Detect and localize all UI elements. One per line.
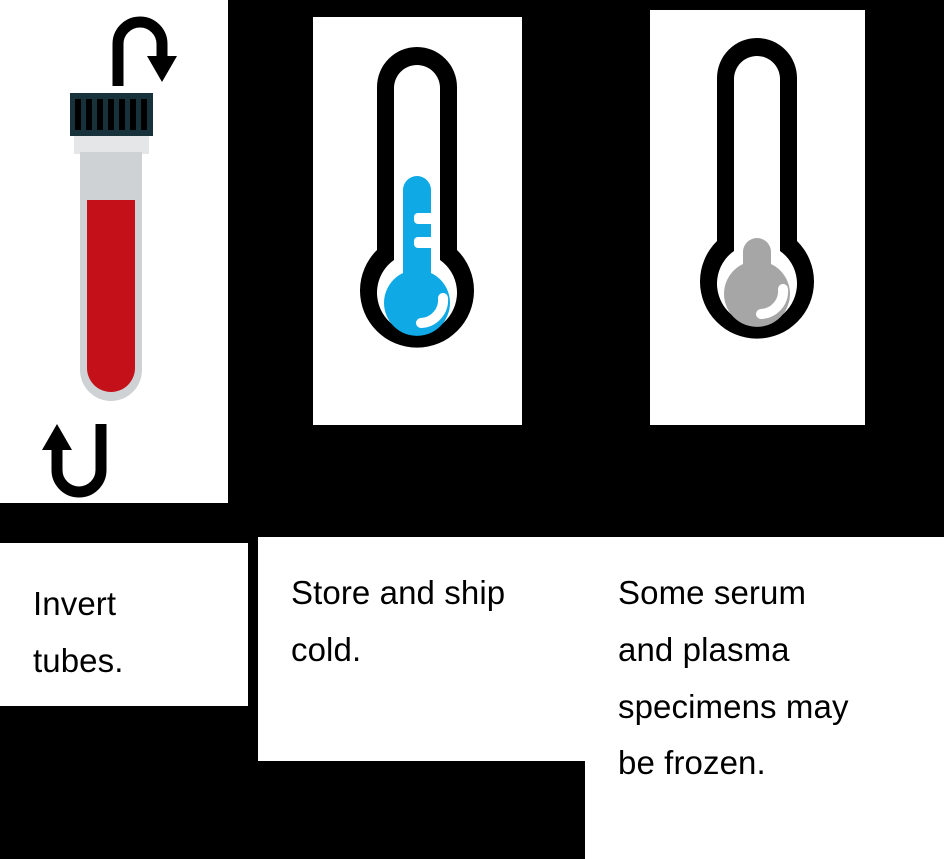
- caption-text-store-ship-cold: Store and ship cold.: [291, 565, 581, 679]
- caption-panel-store-ship-cold: Store and ship cold.: [258, 537, 585, 761]
- image-panel-store-ship-cold: [313, 17, 522, 425]
- thermometer-cold-illustration: [313, 17, 522, 425]
- image-panel-may-be-frozen: [650, 10, 865, 425]
- image-panel-invert-tubes: [0, 0, 228, 503]
- tube-blood-fill: [87, 200, 135, 392]
- caption-text-invert-tubes: Invert tubes.: [33, 576, 233, 690]
- thermometer-frozen-illustration: [650, 10, 865, 425]
- tube-cap: [70, 93, 153, 136]
- caption-text-may-be-frozen: Some serum and plasma specimens may be f…: [618, 565, 938, 792]
- caption-panel-may-be-frozen: Some serum and plasma specimens may be f…: [585, 537, 944, 859]
- tube-collar: [74, 136, 149, 154]
- caption-panel-invert-tubes: Invert tubes.: [0, 543, 248, 706]
- blood-collection-tube-illustration: [0, 0, 228, 503]
- rotate-down-arrow-icon: [118, 22, 177, 86]
- rotate-up-arrow-icon: [42, 424, 101, 492]
- diagram-canvas: Invert tubes. Store and ship cold. Some …: [0, 0, 944, 859]
